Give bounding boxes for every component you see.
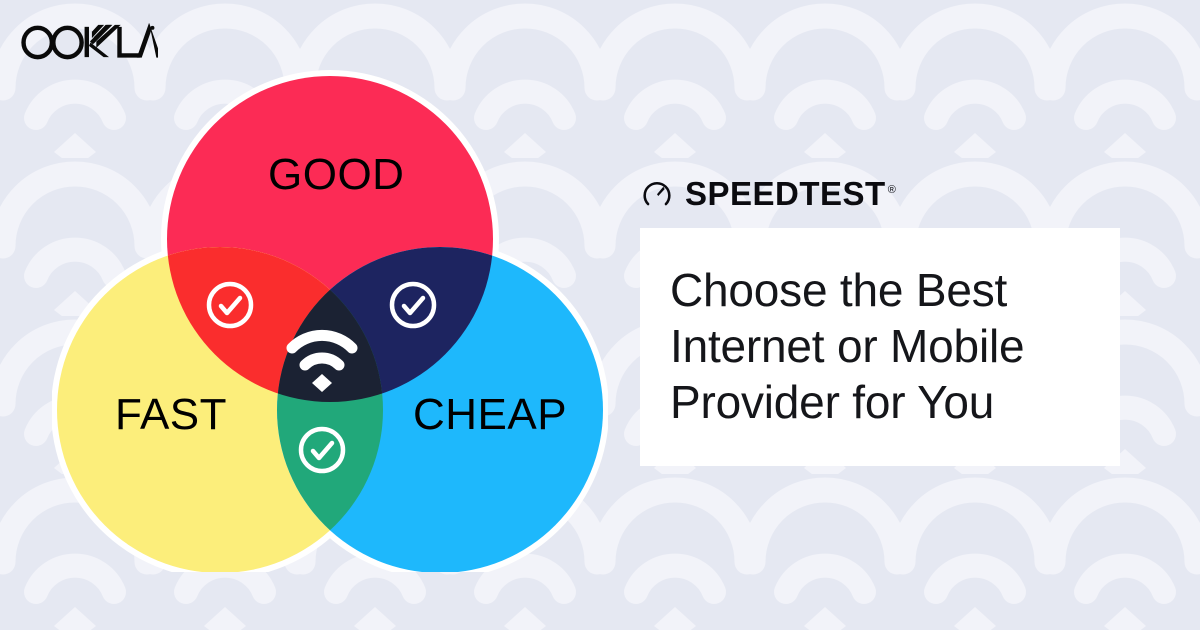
page-title: Choose the Best Internet or Mobile Provi… xyxy=(670,262,1090,430)
registered-trademark-symbol: ® xyxy=(888,184,896,196)
headline-card: Choose the Best Internet or Mobile Provi… xyxy=(640,228,1120,466)
ookla-logo xyxy=(18,20,158,62)
speedometer-icon xyxy=(640,176,674,210)
venn-diagram xyxy=(52,62,608,572)
promo-copy-column: SPEEDTEST® Choose the Best Internet or M… xyxy=(640,170,1120,466)
speedtest-wordmark: SPEEDTEST® xyxy=(685,177,896,210)
speedtest-promo-graphic: GOOD FAST CHEAP SPEEDTEST® Choose the Be… xyxy=(0,0,1200,630)
venn-label-fast: FAST xyxy=(115,393,227,437)
speedtest-wordmark-text: SPEEDTEST xyxy=(685,175,886,212)
venn-label-good: GOOD xyxy=(268,153,404,197)
venn-label-cheap: CHEAP xyxy=(413,393,567,437)
speedtest-logo: SPEEDTEST® xyxy=(640,170,1120,216)
